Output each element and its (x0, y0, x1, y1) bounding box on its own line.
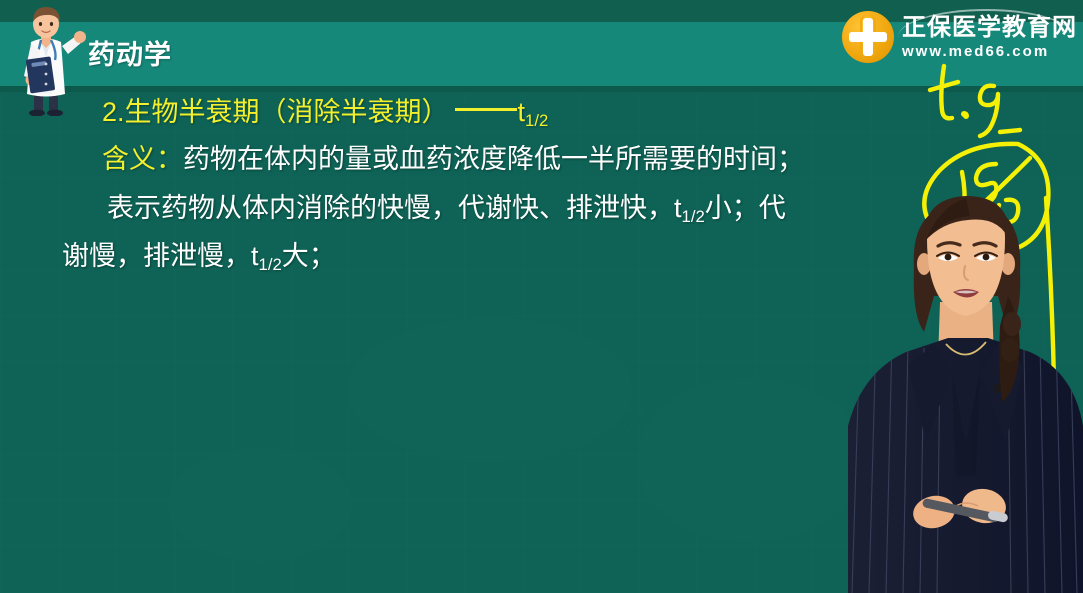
line1-symbol-sub: 1/2 (525, 111, 548, 130)
line4-part-b: 大； (282, 241, 336, 271)
brand-url: www.med66.com (902, 44, 1077, 59)
orange-circle-cross-logo-icon (842, 11, 894, 63)
line3-symbol-base: t (674, 193, 682, 223)
line3-symbol-sub: 1/2 (682, 207, 705, 226)
slide-line-3: 表示药物从体内消除的快慢，代谢快、排泄快，t1/2小；代 (107, 195, 786, 226)
instructor-video-overlay (848, 176, 1083, 593)
slide-line-4: 谢慢，排泄慢，t1/2大； (62, 243, 336, 274)
line4-symbol-sub: 1/2 (259, 255, 282, 274)
line1-symbol-base: t (518, 97, 526, 127)
line3-part-b: 小；代 (705, 193, 786, 223)
line3-part-a: 表示药物从体内消除的快慢，代谢快、排泄快， (107, 193, 674, 223)
line2-label: 含义： (102, 144, 183, 174)
line4-part-a: 谢慢，排泄慢， (62, 241, 251, 271)
slide-line-1: 2.生物半衰期（消除半衰期）t1/2 (102, 99, 548, 130)
lecture-video-frame: 药动学 正保医学教育网 www.med66.com 2.生物半衰期（消除半衰期）… (0, 0, 1083, 593)
slide-line-2: 含义：药物在体内的量或血药浓度降低一半所需要的时间； (102, 146, 804, 173)
line1-prefix: 2.生物半衰期（消除半衰期） (102, 97, 449, 127)
line1-dash (455, 108, 517, 111)
brand-name: 正保医学教育网 (902, 16, 1077, 40)
doctor-illustration-icon (4, 2, 88, 116)
line4-symbol-base: t (251, 241, 259, 271)
banner-bottom-edge (0, 86, 1083, 92)
line2-body: 药物在体内的量或血药浓度降低一半所需要的时间； (183, 144, 804, 174)
brand-logo: 正保医学教育网 www.med66.com (842, 6, 1077, 68)
page-title: 药动学 (88, 33, 172, 72)
